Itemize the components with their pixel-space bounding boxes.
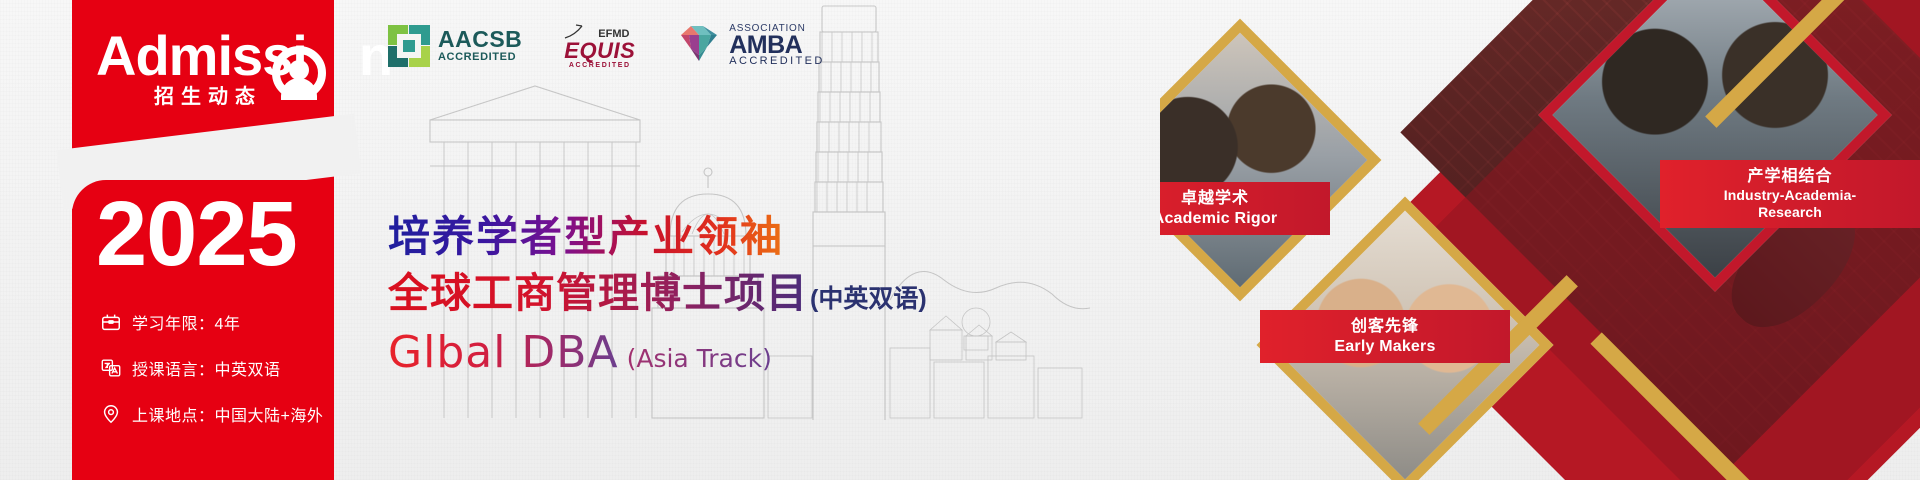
ribbon-makers-cn: 创客先锋 (1276, 317, 1494, 337)
info-row-location: 上课地点：中国大陆+海外 (100, 402, 350, 426)
ribbon-industry-cn: 产学相结合 (1676, 167, 1904, 187)
tagline-headline: 培养学者型产业领袖 (388, 212, 927, 262)
info-row-language: 授课语言：中英双语 (100, 356, 350, 380)
ribbon-academic-en: Academic Rigor (1160, 209, 1314, 229)
aacsb-accreditation: AACSB ACCREDITED (388, 25, 522, 67)
admission-logo-chinese: 招生动态 (154, 80, 262, 109)
program-info-list: 学习年限：4年 授课语言：中英双语 上课地点：中国大陆+海外 (100, 310, 350, 448)
program-name-en: Glbal DBA (388, 327, 619, 378)
info-text-location: 上课地点：中国大陆+海外 (132, 402, 323, 426)
info-text-duration: 学习年限：4年 (132, 310, 240, 334)
program-name-en-row: Glbal DBA(Asia Track) (388, 329, 927, 377)
amba-logo-icon (677, 23, 721, 68)
equis-sub: ACCREDITED (564, 62, 635, 69)
language-icon (100, 357, 122, 379)
headline-block: 培养学者型产业领袖 全球工商管理博士项目(中英双语) Glbal DBA(Asi… (388, 212, 927, 377)
ribbon-industry-en-line2: Research (1676, 204, 1904, 221)
ribbon-industry-en-line1: Industry-Academia- (1676, 187, 1904, 204)
location-pin-icon (100, 403, 122, 425)
equis-accreditation: EFMD EQUIS ACCREDITED (564, 22, 635, 69)
program-name-cn-paren: (中英双语) (810, 285, 927, 313)
admission-year: 2025 (96, 188, 297, 280)
admission-logo: Admissin 招生动态 (96, 28, 356, 140)
accreditation-logos: AACSB ACCREDITED EFMD EQUIS ACCREDITED (388, 22, 825, 69)
aacsb-logo-icon (388, 25, 430, 67)
program-name-cn: 全球工商管理博士项目 (388, 270, 808, 316)
info-text-language: 授课语言：中英双语 (132, 356, 281, 380)
program-name-en-sub: (Asia Track) (627, 344, 772, 373)
ribbon-industry-academia: 产学相结合 Industry-Academia- Research (1660, 160, 1920, 228)
program-name-cn-row: 全球工商管理博士项目(中英双语) (388, 270, 927, 317)
info-row-duration: 学习年限：4年 (100, 310, 350, 334)
admission-banner: Admissin 招生动态 2025 学习年限：4年 (0, 0, 1920, 480)
aacsb-name: AACSB (438, 28, 522, 50)
calendar-icon (100, 311, 122, 333)
person-in-circle-icon (272, 46, 326, 100)
amba-name: AMBA (729, 34, 825, 57)
photo-academic-discussion (1160, 29, 1371, 290)
ribbon-early-makers: 创客先锋 Early Makers (1260, 310, 1510, 363)
equis-name: EQUIS (564, 40, 635, 62)
ribbon-academic-rigor: 卓越学术 Academic Rigor (1160, 182, 1330, 235)
ribbon-academic-cn: 卓越学术 (1160, 189, 1314, 209)
amba-accreditation: ASSOCIATION AMBA ACCREDITED (677, 23, 825, 68)
amba-sub: ACCREDITED (729, 56, 825, 67)
photo-collage: 卓越学术 Academic Rigor 产学相结合 Industry-Acade… (1160, 0, 1920, 480)
ribbon-makers-en: Early Makers (1276, 337, 1494, 357)
aacsb-sub: ACCREDITED (438, 51, 522, 63)
